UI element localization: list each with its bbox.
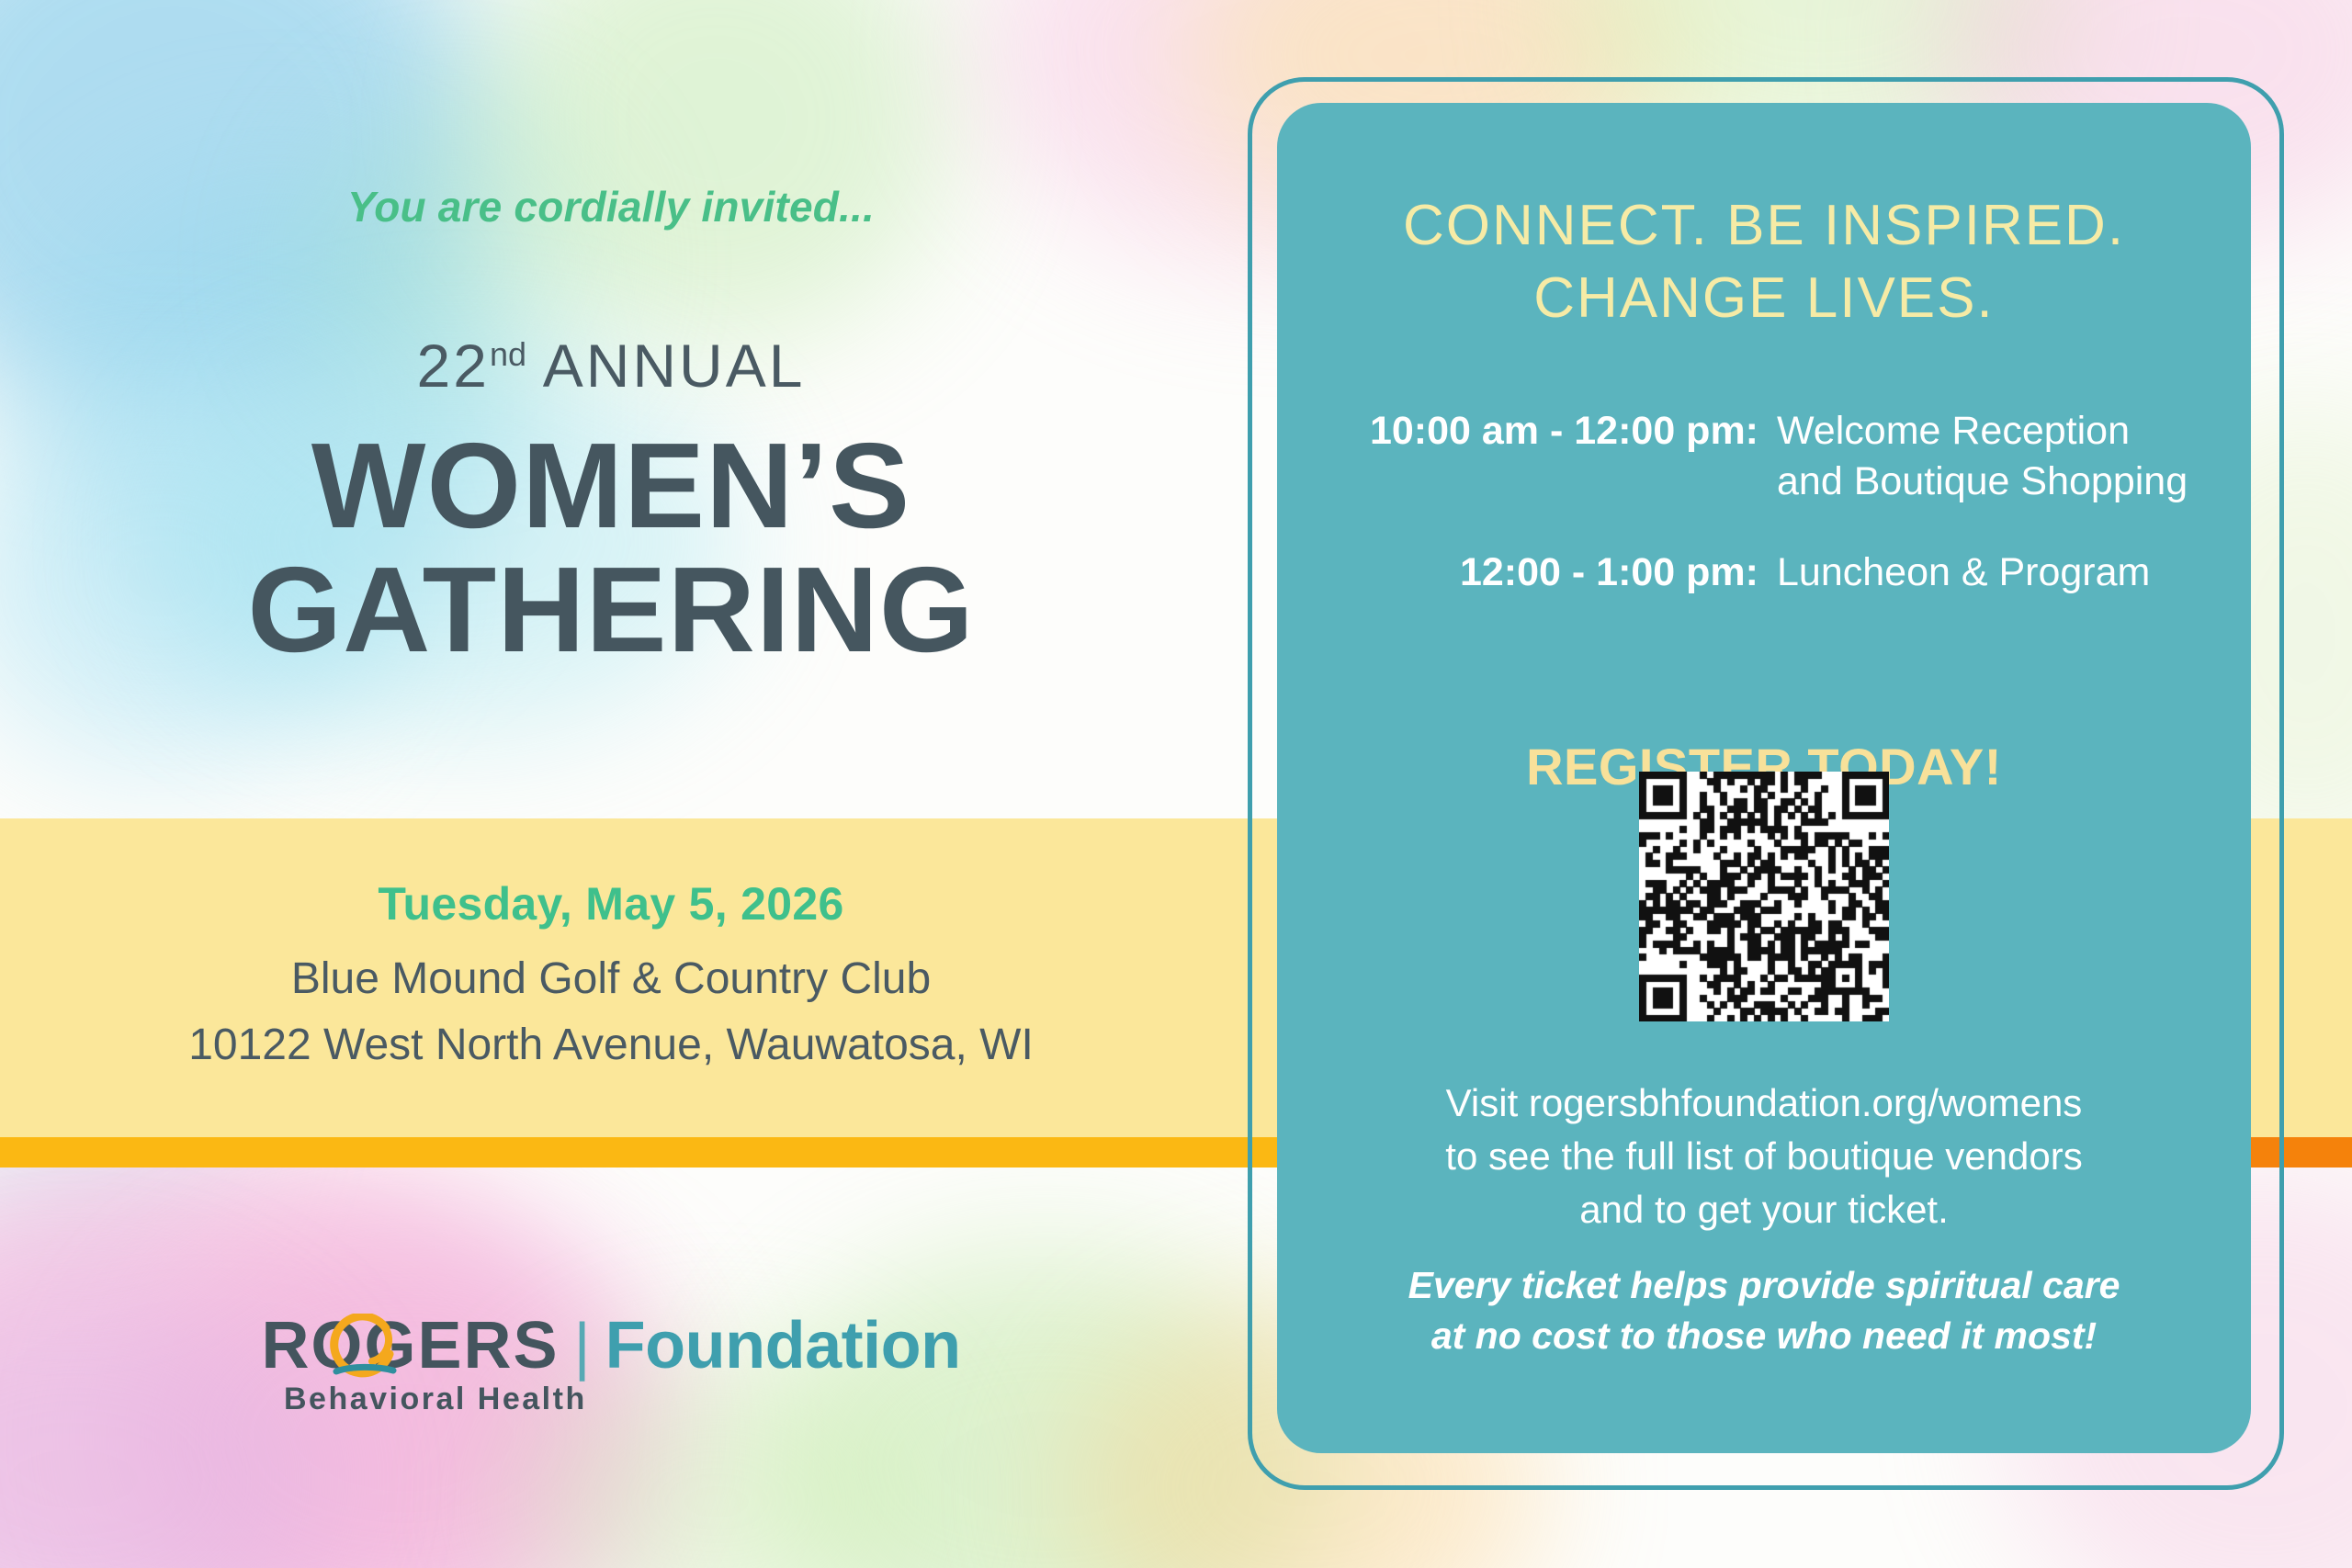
event-title-line-1: WOMEN’S [0, 423, 1222, 548]
visit-website-text: Visit rogersbhfoundation.org/womens to s… [1332, 1077, 2196, 1236]
event-date: Tuesday, May 5, 2026 [0, 877, 1222, 931]
visit-line-1: Visit rogersbhfoundation.org/womens [1332, 1077, 2196, 1130]
tagline-line-2: at no cost to those who need it most! [1325, 1311, 2203, 1361]
annual-word: ANNUAL [543, 332, 806, 400]
schedule-item: 10:00 am - 12:00 pm: Welcome Reception a… [1345, 406, 2198, 507]
panel-headline-line-2: CHANGE LIVES. [1314, 262, 2214, 334]
annual-line: 22nd ANNUAL [0, 331, 1222, 400]
event-venue: Blue Mound Golf & Country Club [0, 953, 1222, 1004]
logo-subtitle-row: Behavioral Health [271, 1385, 951, 1417]
schedule-list: 10:00 am - 12:00 pm: Welcome Reception a… [1345, 406, 2198, 638]
qr-code[interactable] [1639, 772, 1889, 1021]
logo-rogers-text: ROGERS [261, 1309, 559, 1382]
left-column: You are cordially invited... 22nd ANNUAL… [0, 0, 1222, 1568]
schedule-time: 10:00 am - 12:00 pm: [1345, 406, 1758, 457]
annual-number: 22 [417, 332, 490, 400]
cordially-invited-text: You are cordially invited... [0, 182, 1222, 231]
panel-headline-line-1: CONNECT. BE INSPIRED. [1314, 189, 2214, 262]
logo-divider: | [573, 1314, 590, 1378]
annual-ordinal: nd [490, 335, 526, 373]
panel-headline: CONNECT. BE INSPIRED. CHANGE LIVES. [1314, 189, 2214, 335]
tagline-line-1: Every ticket helps provide spiritual car… [1325, 1260, 2203, 1311]
details-panel: CONNECT. BE INSPIRED. CHANGE LIVES. 10:0… [1277, 103, 2251, 1453]
schedule-time: 12:00 - 1:00 pm: [1345, 547, 1758, 598]
invitation-card: You are cordially invited... 22nd ANNUAL… [0, 0, 2352, 1568]
logo-rogers-wordmark: ROGERS [261, 1308, 559, 1383]
logo-wordmark-row: ROGERS | Foundation [271, 1306, 951, 1385]
visit-line-2: to see the full list of boutique vendors [1332, 1130, 2196, 1183]
schedule-description: Welcome Reception and Boutique Shopping [1777, 406, 2198, 507]
logo-subtitle: Behavioral Health [271, 1382, 587, 1417]
schedule-item: 12:00 - 1:00 pm: Luncheon & Program [1345, 547, 2198, 598]
schedule-description: Luncheon & Program [1777, 547, 2198, 598]
qr-code-canvas[interactable] [1639, 772, 1889, 1021]
rogers-foundation-logo: ROGERS | Foundation Behavioral Health [271, 1306, 951, 1426]
event-address: 10122 West North Avenue, Wauwatosa, WI [0, 1020, 1222, 1070]
logo-foundation-text: Foundation [605, 1308, 961, 1383]
visit-line-3: and to get your ticket. [1332, 1183, 2196, 1236]
event-title-line-2: GATHERING [0, 547, 1222, 672]
mission-tagline: Every ticket helps provide spiritual car… [1325, 1260, 2203, 1362]
